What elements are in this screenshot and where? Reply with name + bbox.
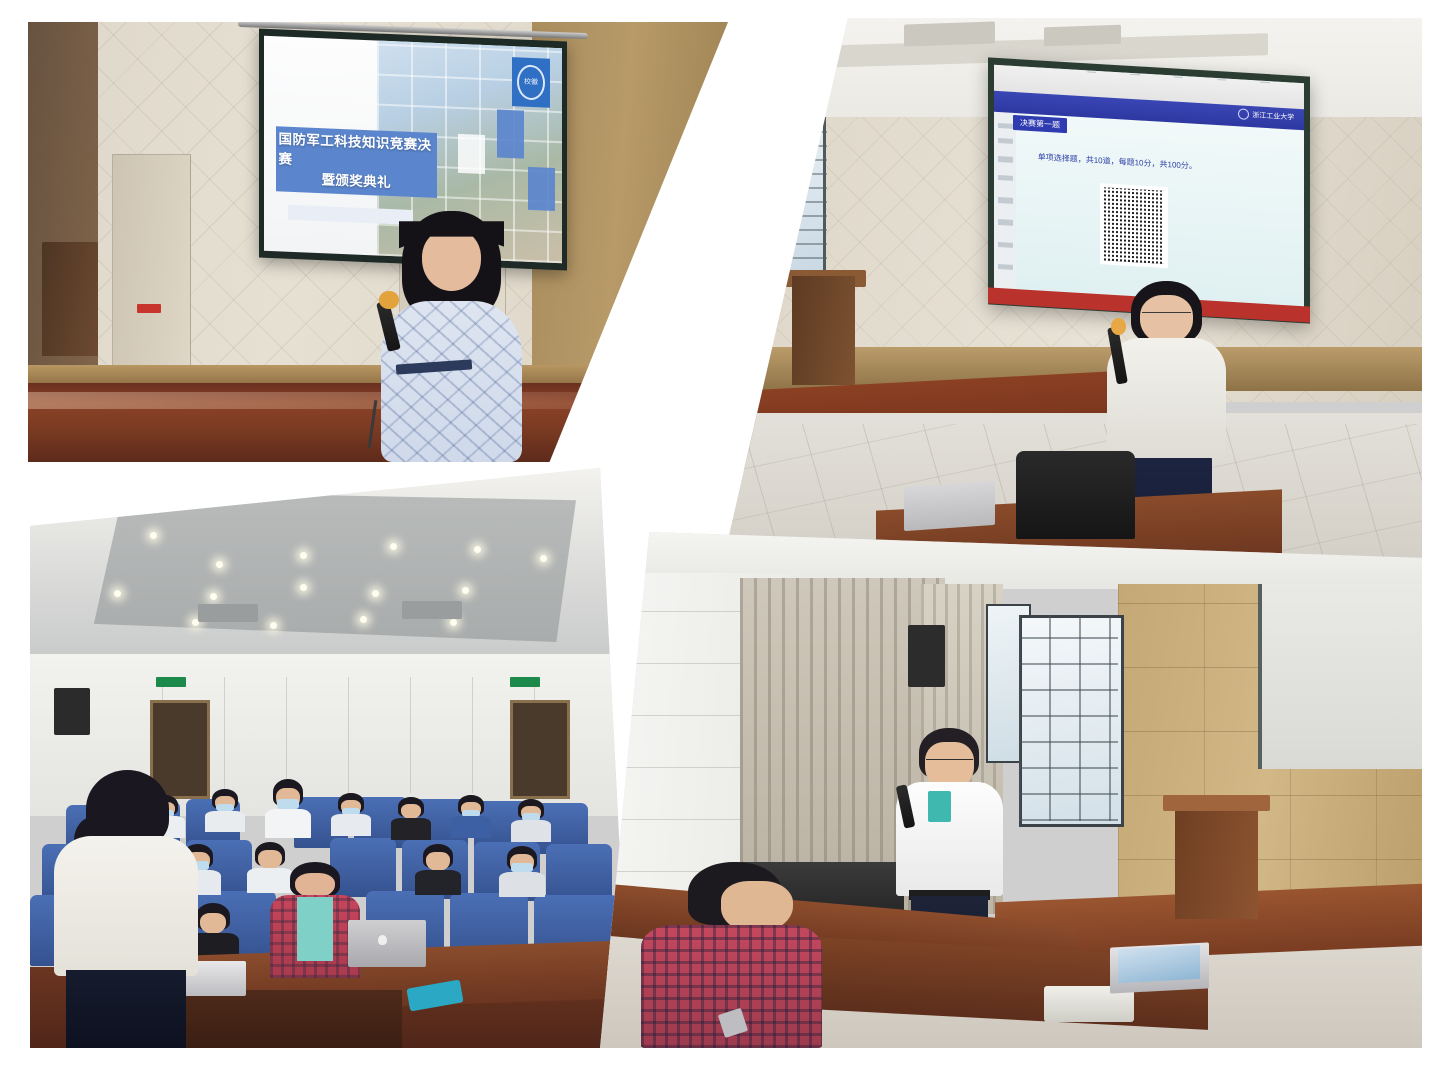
collage-panel-bottom-left <box>30 468 630 1048</box>
audience-member <box>330 793 372 836</box>
collage-panel-top-left: 校徽 国防军工科技知识竞赛决赛 暨颁奖典礼 <box>28 22 728 462</box>
air-vent <box>904 22 995 47</box>
microphone-head-icon <box>1111 318 1126 335</box>
ceiling-light <box>300 584 307 591</box>
wall-panel-lines <box>162 677 546 793</box>
white-blouse <box>54 836 198 975</box>
ceiling-light <box>216 561 223 568</box>
ribbon-icon <box>1260 82 1269 84</box>
wall-panel-left <box>112 154 191 367</box>
slide-blue-tile <box>497 110 524 158</box>
glasses-icon <box>926 759 973 769</box>
technician-figure <box>270 862 360 978</box>
collage-panel-top-right: 浙江工业大学 决赛第一题 单项选择题，共10道，每题10分，共100分。 <box>722 18 1422 566</box>
ribbon-icon <box>1174 77 1183 79</box>
podium <box>42 242 98 356</box>
ceiling-recess <box>84 491 576 642</box>
university-name: 浙江工业大学 <box>1252 110 1294 122</box>
ceiling-light <box>270 622 277 629</box>
photo-collage: 校徽 国防军工科技知识竞赛决赛 暨颁奖典礼 <box>0 0 1440 1080</box>
ribbon-icon <box>1130 74 1139 76</box>
lecture-hall-scene-4 <box>600 532 1422 1048</box>
exit-sign <box>510 677 540 687</box>
question-badge: 决赛第一题 <box>1013 115 1067 133</box>
podium <box>1175 805 1257 919</box>
exit-sign <box>156 677 186 687</box>
macbook-laptop <box>348 920 426 966</box>
air-vent <box>198 604 258 621</box>
slide-thumbnail-panel <box>994 112 1016 299</box>
face <box>422 229 481 292</box>
qr-code-icon <box>1100 183 1168 268</box>
auditorium-scene <box>30 468 630 1048</box>
navy-skirt <box>66 970 187 1048</box>
presenter-figure <box>378 211 525 462</box>
university-logo-icon: 校徽 <box>512 57 551 108</box>
foreground-seated-figure <box>641 862 822 1048</box>
audience-member <box>204 789 246 832</box>
ceiling-light <box>360 616 367 623</box>
teal-tshirt <box>297 897 333 961</box>
ceiling-light <box>210 593 217 600</box>
wall-speaker <box>908 625 945 687</box>
audience-member <box>414 844 462 895</box>
mobile-phone-icon <box>928 791 952 822</box>
audience-member <box>498 846 546 897</box>
ceiling-light <box>114 590 121 597</box>
collage-panel-bottom-right <box>600 532 1422 1048</box>
question-body-text: 单项选择题，共10道，每题10分，共100分。 <box>1038 152 1197 172</box>
logo-label: 校徽 <box>524 79 538 87</box>
lecture-hall-scene-2: 浙江工业大学 决赛第一题 单项选择题，共10道，每题10分，共100分。 <box>722 18 1422 566</box>
window-grille <box>1019 615 1118 821</box>
window-grille <box>764 128 827 260</box>
quiz-slide: 浙江工业大学 决赛第一题 单项选择题，共10道，每题10分，共100分。 <box>994 66 1303 316</box>
white-jacket <box>1107 338 1226 458</box>
slide-white-tile <box>458 134 485 174</box>
wall-speaker <box>54 688 90 734</box>
presenter-back-figure <box>54 770 198 1048</box>
ceiling-light <box>372 590 379 597</box>
ceiling-light <box>540 555 547 562</box>
air-vent <box>1044 25 1121 47</box>
microphone-head-icon <box>379 291 398 309</box>
air-vent <box>402 601 462 618</box>
patterned-dress <box>381 301 522 462</box>
slide-title-line-1: 国防军工科技知识竞赛决赛 <box>279 130 434 176</box>
ceiling-light <box>150 532 157 539</box>
projection-screen <box>1258 584 1422 770</box>
slide-title: 国防军工科技知识竞赛决赛 暨颁奖典礼 <box>279 130 434 195</box>
laptop-screen <box>1118 945 1200 983</box>
lecture-hall-scene-1: 校徽 国防军工科技知识竞赛决赛 暨颁奖典礼 <box>28 22 728 462</box>
audience-member <box>510 799 552 842</box>
ribbon-icon <box>1217 79 1226 81</box>
laptop <box>904 481 995 531</box>
podium-top <box>1163 795 1270 810</box>
university-logo-icon <box>1238 109 1249 121</box>
exit-door[interactable] <box>510 700 570 799</box>
audience-member <box>450 795 492 838</box>
ceiling-light <box>450 619 457 626</box>
podium <box>792 276 855 386</box>
slide-blue-tile <box>528 167 555 211</box>
audience-member <box>390 797 432 840</box>
fire-safety-sign <box>137 304 161 313</box>
slide-title-line-2: 暨颁奖典礼 <box>321 171 391 193</box>
audience-member-standing <box>264 779 312 838</box>
leather-chair <box>1016 451 1135 539</box>
glasses-icon <box>1142 312 1192 323</box>
ceiling-light <box>462 587 469 594</box>
ribbon-icon <box>1087 72 1096 74</box>
